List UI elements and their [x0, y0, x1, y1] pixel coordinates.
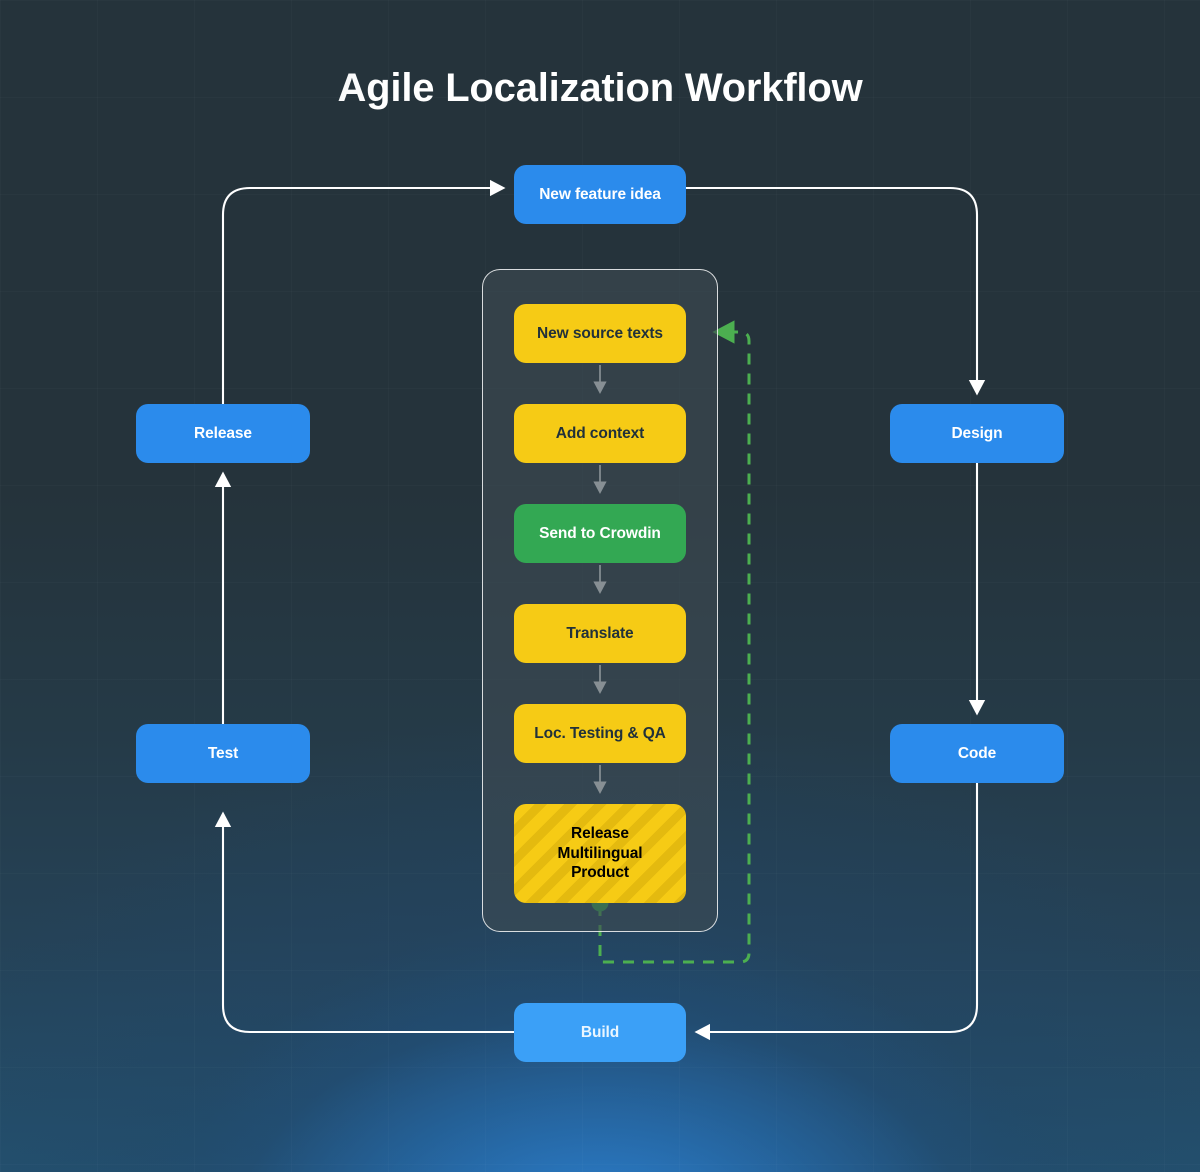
node-label: Translate [566, 624, 633, 644]
node-release[interactable]: Release [136, 404, 310, 463]
node-label-line-2: Multilingual [558, 845, 643, 862]
wire-code-to-build [697, 783, 977, 1032]
node-new-feature-idea[interactable]: New feature idea [514, 165, 686, 224]
node-label: Release Multilingual Product [558, 824, 643, 883]
node-label-line-3: Product [571, 864, 629, 881]
node-code[interactable]: Code [890, 724, 1064, 783]
node-loc-testing-qa[interactable]: Loc. Testing & QA [514, 704, 686, 763]
wire-release-to-new-feature [223, 188, 503, 404]
node-label-line-1: Release [571, 825, 629, 842]
node-label: Test [208, 744, 238, 764]
node-send-to-crowdin[interactable]: Send to Crowdin [514, 504, 686, 563]
node-label: Build [581, 1023, 619, 1043]
node-label: Send to Crowdin [539, 524, 661, 544]
node-label: Release [194, 424, 252, 444]
node-label: Add context [556, 424, 644, 444]
node-label: New source texts [537, 324, 663, 344]
node-label: Loc. Testing & QA [534, 724, 666, 744]
wire-new-feature-to-design [686, 188, 977, 393]
node-release-multilingual-product[interactable]: Release Multilingual Product [514, 804, 686, 903]
node-add-context[interactable]: Add context [514, 404, 686, 463]
node-label: Design [951, 424, 1002, 444]
node-test[interactable]: Test [136, 724, 310, 783]
node-label: New feature idea [539, 185, 661, 205]
page-title: Agile Localization Workflow [0, 66, 1200, 111]
wire-build-to-test [223, 814, 514, 1032]
node-new-source-texts[interactable]: New source texts [514, 304, 686, 363]
workflow-diagram-canvas: Agile Localization Workflow [0, 0, 1200, 1172]
node-label: Code [958, 744, 996, 764]
node-design[interactable]: Design [890, 404, 1064, 463]
node-translate[interactable]: Translate [514, 604, 686, 663]
node-build[interactable]: Build [514, 1003, 686, 1062]
